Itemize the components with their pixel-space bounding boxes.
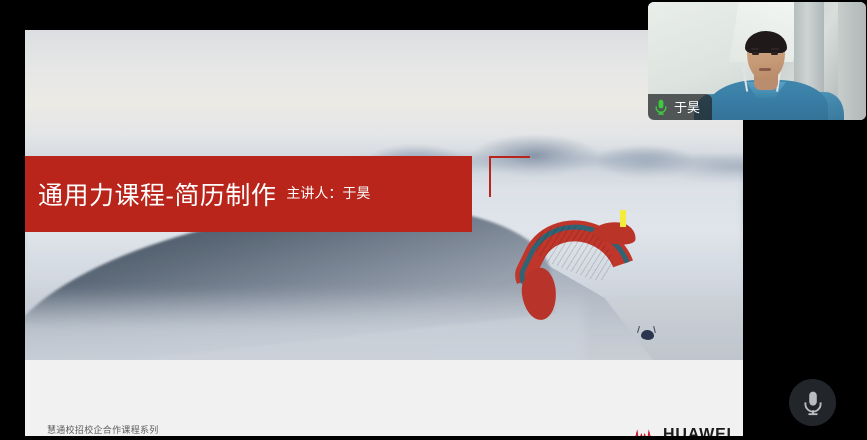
participant-name-badge: 于昊 [648,94,712,120]
participant-eye-left [752,52,759,55]
slide-title: 通用力课程-简历制作 [38,176,276,212]
participant-brow-right [771,48,779,50]
video-pillar-two [838,2,866,120]
microphone-icon [802,390,824,416]
yellow-marker-icon [620,210,626,227]
slide-footer-caption: 慧通校招校企合作课程系列 [47,423,159,436]
mic-toggle-button[interactable] [789,379,836,426]
slide-background-photo: 通用力课程-简历制作 主讲人：于昊 [25,30,743,360]
participant-video-tile[interactable]: 于昊 [648,2,866,120]
participant-brow-left [751,48,759,50]
canopy-shape [518,222,648,322]
slide-title-bar: 通用力课程-简历制作 主讲人：于昊 [25,156,472,232]
participant-name: 于昊 [674,101,700,114]
decorative-corner-bracket [489,156,530,197]
paraglider-pilot [637,326,657,341]
huawei-wordmark: HUAWEI [663,427,732,436]
huawei-flower-icon [630,424,656,436]
participant-eye-right [771,52,778,55]
paraglider-canopy [518,222,648,332]
pilot-line-left [637,326,640,333]
huawei-logo: HUAWEI [630,424,732,436]
shared-slide[interactable]: 通用力课程-简历制作 主讲人：于昊 慧通校招校企合作课程系列 [25,30,743,436]
foreground-ridge-haze [25,288,585,360]
microphone-on-icon [654,99,668,115]
slide-footer: 慧通校招校企合作课程系列 HUAWEI [25,360,743,436]
participant-mouth [759,68,771,71]
slide-presenter: 主讲人：于昊 [286,183,370,205]
pilot-body [641,330,654,340]
conference-screen: 通用力课程-简历制作 主讲人：于昊 慧通校招校企合作课程系列 [0,0,867,440]
pilot-line-right [653,326,656,333]
